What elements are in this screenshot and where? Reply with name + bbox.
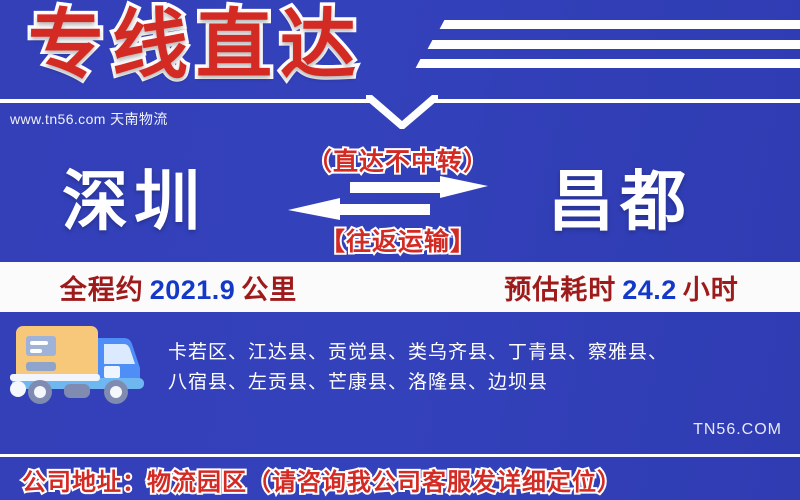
duration-value: 24.2 [622,275,677,305]
speed-line-2 [428,40,800,49]
duration-metric: 预估耗时24.2小时 [409,268,800,307]
speed-line-3 [416,59,800,68]
watermark-label: TN56.COM [693,421,782,439]
distance-label: 全程约 [60,275,144,305]
logistics-route-poster: 专线直达 www.tn56.com 天南物流 深圳 昌都 （直达不中转） 【往返… [0,0,800,500]
covered-districts-list: 卡若区、江达县、贡觉县、类乌齐县、丁青县、察雅县、 八宿县、左贡县、芒康县、洛隆… [168,338,784,398]
site-url-label: www.tn56.com 天南物流 [10,109,168,129]
header-rule-right [428,99,800,103]
distance-value: 2021.9 [150,275,236,305]
metrics-bar: 全程约2021.9公里 预估耗时24.2小时 [0,262,800,312]
distance-metric: 全程约2021.9公里 [0,268,409,307]
delivery-truck-icon [6,318,154,404]
chevron-down-icon [366,95,438,131]
destination-city: 昌都 [548,158,692,244]
route-note-top: （直达不中转） [278,142,518,178]
origin-city: 深圳 [62,158,206,244]
distance-unit: 公里 [241,275,297,305]
speed-line-1 [440,20,800,29]
duration-label: 预估耗时 [504,275,616,305]
page-title: 专线直达 [28,0,364,94]
route-note-bottom: 【往返运输】 [278,222,518,258]
header-rule-left [0,99,372,103]
company-address-text: 公司地址：物流园区（请咨询我公司客服发详细定位） [22,462,622,497]
districts-line-2: 八宿县、左贡县、芒康县、洛隆县、边坝县 [168,368,784,398]
districts-line-1: 卡若区、江达县、贡觉县、类乌齐县、丁青县、察雅县、 [168,338,784,368]
duration-unit: 小时 [683,275,739,305]
two-way-arrows-icon [288,176,488,220]
